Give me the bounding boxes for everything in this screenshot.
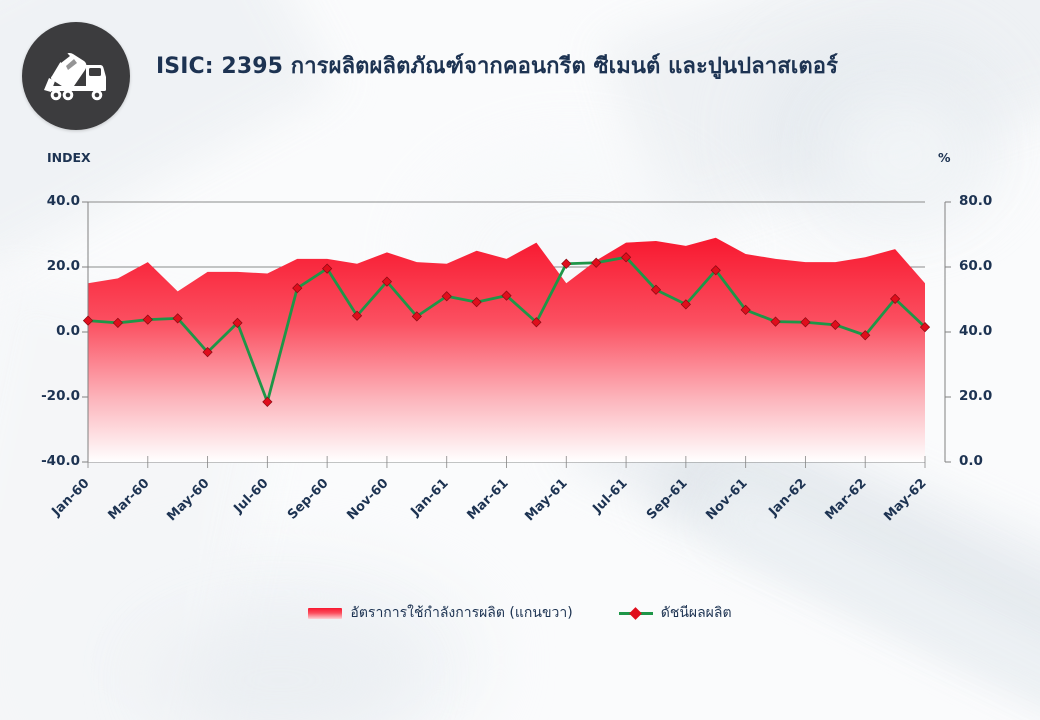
y-axis-tick-right: 60.0 <box>959 258 1021 274</box>
legend-item-capacity-utilization[interactable]: อัตราการใช้กำลังการผลิต (แกนขวา) <box>308 602 572 624</box>
legend-label-capacity-utilization: อัตราการใช้กำลังการผลิต (แกนขวา) <box>350 602 572 624</box>
legend-line-swatch-icon <box>619 607 653 619</box>
y-axis-tick-right: 40.0 <box>959 323 1021 339</box>
y-axis-tick-left: -20.0 <box>18 388 80 404</box>
legend-label-production-index: ดัชนีผลผลิต <box>661 602 732 624</box>
y-axis-tick-right: 20.0 <box>959 388 1021 404</box>
area-series-capacity-utilization <box>88 238 925 462</box>
chart-legend: อัตราการใช้กำลังการผลิต (แกนขวา) ดัชนีผล… <box>0 598 1040 628</box>
legend-area-swatch-icon <box>308 608 342 619</box>
right-axis-title: % <box>938 150 951 165</box>
legend-item-production-index[interactable]: ดัชนีผลผลิต <box>619 602 732 624</box>
y-axis-tick-right: 80.0 <box>959 193 1021 209</box>
y-axis-tick-left: 20.0 <box>18 258 80 274</box>
y-axis-tick-left: 0.0 <box>18 323 80 339</box>
y-axis-tick-right: 0.0 <box>959 453 1021 469</box>
chart-header: ISIC: 2395 การผลิตผลิตภัณฑ์จากคอนกรีต ซี… <box>0 0 1040 135</box>
y-axis-tick-left: -40.0 <box>18 453 80 469</box>
y-axis-tick-left: 40.0 <box>18 193 80 209</box>
page-title: ISIC: 2395 การผลิตผลิตภัณฑ์จากคอนกรีต ซี… <box>156 52 1016 82</box>
left-axis-title: INDEX <box>47 150 91 165</box>
cement-mixer-truck-icon <box>22 22 130 130</box>
